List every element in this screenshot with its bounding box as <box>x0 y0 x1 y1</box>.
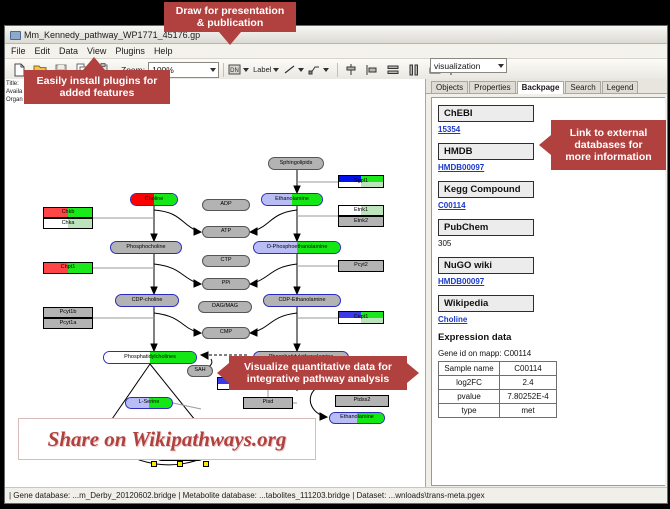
node-phosphatidylcholines[interactable]: Phosphatidylcholines <box>103 351 197 364</box>
node-label: Etnk1 <box>354 208 368 214</box>
node-ppi[interactable]: PPi <box>202 278 250 290</box>
menu-file[interactable]: File <box>11 46 26 56</box>
node-pisd[interactable]: Pisd <box>243 397 293 409</box>
node-chpt1[interactable]: Chpt1 <box>43 262 93 274</box>
node-label: Cept1 <box>354 315 369 321</box>
menu-edit[interactable]: Edit <box>35 46 51 56</box>
cell-value: 7.80252E-4 <box>500 390 557 404</box>
screenshot-root: Mm_Kennedy_pathway_WP1771_45176.gp File … <box>0 0 670 509</box>
tab-properties[interactable]: Properties <box>469 81 515 93</box>
node-pcyt1a[interactable]: Pcyt1a <box>43 318 93 329</box>
label-tool-text: Label <box>253 65 271 74</box>
node-label: ADP <box>220 202 231 208</box>
menu-view[interactable]: View <box>87 46 106 56</box>
chevron-down-icon <box>298 68 304 72</box>
tab-objects[interactable]: Objects <box>431 81 468 93</box>
menu-plugins[interactable]: Plugins <box>115 46 145 56</box>
node-phosphocholine[interactable]: Phosphocholine <box>110 241 182 254</box>
table-row: Sample name C00114 <box>439 362 557 376</box>
node-label: Pisd <box>263 400 274 406</box>
chevron-down-icon <box>243 68 249 72</box>
share-text: Share on Wikipathways.org <box>48 427 287 452</box>
node-label: Sphingolipids <box>280 161 313 167</box>
node-label: CDP-choline <box>132 298 163 304</box>
callout-share: Share on Wikipathways.org <box>18 418 316 460</box>
node-sgpl1[interactable]: Sgpl1 <box>338 175 384 188</box>
line-tool[interactable] <box>283 63 304 76</box>
node-dag-mag[interactable]: DAG/MAG <box>198 301 252 313</box>
label-tool[interactable]: Label <box>253 65 279 74</box>
node-ctp[interactable]: CTP <box>202 255 250 267</box>
node-atp[interactable]: ATP <box>202 226 250 238</box>
node-label: Phosphocholine <box>126 245 165 251</box>
node-label: Choline <box>145 197 164 203</box>
menu-data[interactable]: Data <box>59 46 78 56</box>
callout-plugins-arrow-icon <box>83 57 105 70</box>
callout-plugins: Easily install plugins for added feature… <box>24 70 170 104</box>
chevron-down-icon <box>323 68 329 72</box>
node-label: O-Phosphoethanolamine <box>267 245 328 251</box>
node-label: L-Serine <box>139 400 160 406</box>
shape-tool[interactable] <box>308 63 329 76</box>
cell-key: Sample name <box>439 362 500 376</box>
node-label: Pcyt1a <box>60 321 77 327</box>
table-row: log2FC 2.4 <box>439 376 557 390</box>
cell-key: type <box>439 404 500 418</box>
callout-links-arrow-icon <box>539 135 551 155</box>
node-label: Phosphatidylcholines <box>124 355 176 361</box>
node-chkb[interactable]: Chkb <box>43 207 93 218</box>
callout-visualize-arrow-left-icon <box>217 363 229 383</box>
node-pcyt2[interactable]: Pcyt2 <box>338 260 384 272</box>
node-label: Ethanolamine <box>275 197 309 203</box>
table-row: pvalue 7.80252E-4 <box>439 390 557 404</box>
wikipedia-link[interactable]: Choline <box>438 315 665 324</box>
node-choline[interactable]: Choline <box>130 193 178 206</box>
side-panel-tabs: Objects Properties Backpage Search Legen… <box>426 79 667 94</box>
node-label: Ptdss2 <box>354 398 371 404</box>
node-label: CTP <box>221 258 232 264</box>
align-left-icon[interactable] <box>363 61 381 79</box>
section-header: PubChem <box>438 219 534 236</box>
nugo-link[interactable]: HMDB00097 <box>438 277 665 286</box>
datanode-tool[interactable]: DN <box>228 63 249 76</box>
expression-data-title: Expression data <box>438 332 665 343</box>
backpage-section-pubchem: PubChem 305 <box>438 217 665 248</box>
node-sah[interactable]: SAH <box>187 365 213 377</box>
node-label: Pcyt2 <box>354 263 368 269</box>
node-label: SAH <box>194 368 205 374</box>
section-header: HMDB <box>438 143 534 160</box>
node-label: Chkb <box>62 210 75 216</box>
section-header: NuGO wiki <box>438 257 534 274</box>
callout-links: Link to external databases for more info… <box>551 120 666 170</box>
align-center-icon[interactable] <box>342 61 360 79</box>
tab-backpage[interactable]: Backpage <box>517 81 565 94</box>
cell-value: met <box>500 404 557 418</box>
node-l-serine-left[interactable]: L-Serine <box>125 397 173 409</box>
svg-text:DN: DN <box>230 68 239 74</box>
callout-draw-arrow-icon <box>219 32 241 45</box>
node-label: Pcyt1b <box>60 310 77 316</box>
chevron-down-icon <box>273 68 279 72</box>
node-sphingolipids[interactable]: Sphingolipids <box>268 157 324 170</box>
toolbar-separator <box>223 63 224 77</box>
backpage-section-wikipedia: Wikipedia Choline <box>438 293 665 324</box>
node-label: CDP-Ethanolamine <box>278 298 325 304</box>
tab-legend[interactable]: Legend <box>602 81 639 93</box>
node-chka[interactable]: Chka <box>43 218 93 229</box>
expression-table: Sample name C00114 log2FC 2.4 pvalue 7.8… <box>438 361 557 418</box>
node-ethanolamine[interactable]: Ethanolamine <box>261 193 323 206</box>
visualization-combobox[interactable]: visualization <box>430 58 507 73</box>
toolbar-separator <box>337 63 338 77</box>
table-row: type met <box>439 404 557 418</box>
section-header: Kegg Compound <box>438 181 534 198</box>
chevron-down-icon <box>498 64 504 68</box>
node-label: Chpt1 <box>61 265 76 271</box>
node-o-phosphoethanolamine[interactable]: O-Phosphoethanolamine <box>253 241 341 254</box>
cell-value: C00114 <box>500 362 557 376</box>
node-label: ATP <box>221 229 231 235</box>
same-width-icon[interactable] <box>405 61 423 79</box>
node-cdp-ethanolamine[interactable]: CDP-Ethanolamine <box>263 294 341 307</box>
section-header: ChEBI <box>438 105 534 122</box>
node-cmp[interactable]: CMP <box>202 327 250 339</box>
node-label: Ethanolamine <box>340 415 374 421</box>
node-cept1[interactable]: Cept1 <box>338 311 384 324</box>
selection-handle[interactable] <box>203 461 209 467</box>
cell-key: log2FC <box>439 376 500 390</box>
visualization-value: visualization <box>434 61 480 71</box>
pubchem-value: 305 <box>438 239 665 248</box>
node-ethanolamine-bottom[interactable]: Ethanolamine <box>329 412 385 424</box>
menu-help[interactable]: Help <box>154 46 173 56</box>
kegg-link[interactable]: C00114 <box>438 201 665 210</box>
node-etnk1[interactable]: Etnk1 <box>338 205 384 216</box>
backpage-section-kegg: Kegg Compound C00114 <box>438 179 665 210</box>
selection-handle[interactable] <box>177 461 183 467</box>
node-etnk2[interactable]: Etnk2 <box>338 216 384 227</box>
node-label: PPi <box>222 281 231 287</box>
node-label: Chka <box>62 221 75 227</box>
node-ptdss2[interactable]: Ptdss2 <box>335 395 389 407</box>
node-pcyt1b[interactable]: Pcyt1b <box>43 307 93 318</box>
node-label: DAG/MAG <box>212 304 238 310</box>
section-header: Wikipedia <box>438 295 534 312</box>
node-adp[interactable]: ADP <box>202 199 250 211</box>
cell-key: pvalue <box>439 390 500 404</box>
status-bar: | Gene database: ...m_Derby_20120602.bri… <box>5 487 667 503</box>
callout-visualize-arrow-right-icon <box>407 363 419 383</box>
node-label: Sgpl1 <box>354 179 368 185</box>
distribute-vertical-icon[interactable] <box>384 61 402 79</box>
callout-visualize: Visualize quantitative data for integrat… <box>229 356 407 390</box>
tab-search[interactable]: Search <box>565 81 600 93</box>
status-text: | Gene database: ...m_Derby_20120602.bri… <box>9 491 485 500</box>
node-label: CMP <box>220 330 232 336</box>
backpage-section-nugo: NuGO wiki HMDB00097 <box>438 255 665 286</box>
gene-id-line: Gene id on mapp: C00114 <box>438 349 665 358</box>
callout-draw: Draw for presentation & publication <box>164 2 296 32</box>
selection-handle[interactable] <box>151 461 157 467</box>
chevron-down-icon <box>210 68 216 72</box>
cell-value: 2.4 <box>500 376 557 390</box>
window-titlebar: Mm_Kennedy_pathway_WP1771_45176.gp <box>5 26 667 44</box>
node-label: Etnk2 <box>354 219 368 225</box>
pathvisio-app-icon <box>9 29 20 40</box>
node-cdp-choline[interactable]: CDP-choline <box>115 294 179 307</box>
